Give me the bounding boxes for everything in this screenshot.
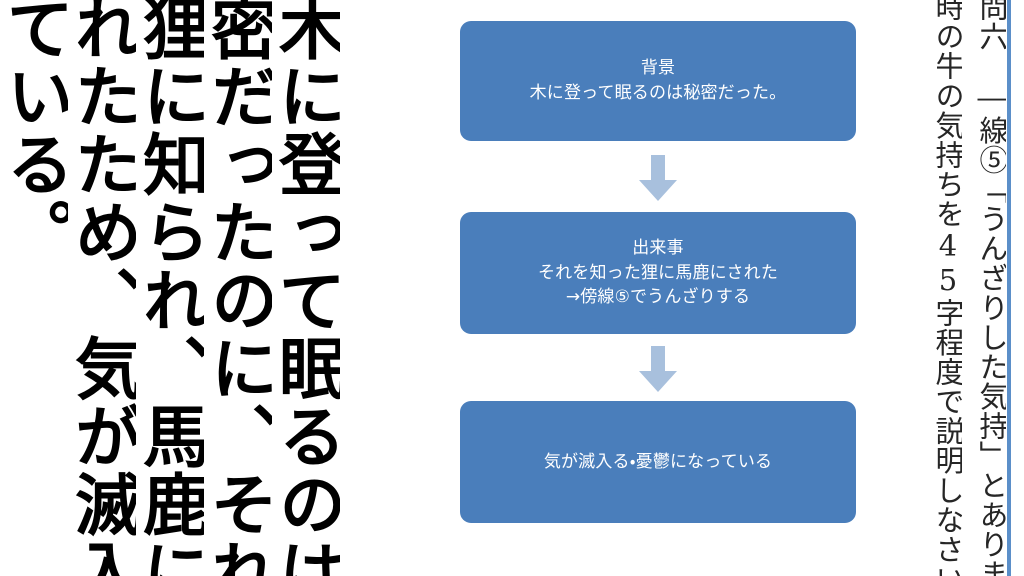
flowchart: 背景 木に登って眠るのは秘密だった。 出来事 それを知った狸に馬鹿にされた →傍… [460, 21, 856, 523]
question-column-2: 時の牛の気持ちを45字程度で説明しなさい。 [918, 0, 962, 576]
right-edge-rule [1007, 0, 1011, 576]
flow-box-event-heading: 出来事 [632, 236, 684, 261]
question-text-vertical: 問六 ―線⑤「うんざりした気持」とありますが、この 時の牛の気持ちを45字程度で… [888, 0, 1006, 576]
arrow-down-icon [639, 155, 677, 201]
passage-column-1: 木に登って眠るのは秘 [272, 0, 340, 576]
answer-passage-vertical: 木に登って眠るのは秘 密だったのに、それを 狸に知られ、馬鹿にさ れたため、気が… [0, 0, 340, 576]
flow-box-event-body-line-2: →傍線⑤でうんざりする [566, 285, 750, 310]
flow-box-event-body-line-1: それを知った狸に馬鹿にされた [538, 261, 778, 286]
question-column-1: 問六 ―線⑤「うんざりした気持」とありますが、この [962, 0, 1006, 576]
arrow-down-icon [639, 346, 677, 392]
flow-box-background-body: 木に登って眠るのは秘密だった。 [530, 81, 787, 106]
flow-box-event[interactable]: 出来事 それを知った狸に馬鹿にされた →傍線⑤でうんざりする [460, 212, 856, 334]
passage-column-5: ている。 [0, 0, 68, 576]
passage-column-4: れたため、気が滅入っ [68, 0, 136, 576]
passage-column-2: 密だったのに、それを [204, 0, 272, 576]
flow-box-result-body: 気が滅入る・憂鬱になっている [544, 450, 772, 475]
flow-box-background[interactable]: 背景 木に登って眠るのは秘密だった。 [460, 21, 856, 141]
flow-box-background-heading: 背景 [641, 56, 675, 81]
flow-box-result[interactable]: 気が滅入る・憂鬱になっている [460, 401, 856, 523]
passage-column-3: 狸に知られ、馬鹿にさ [136, 0, 204, 576]
slide-canvas: 木に登って眠るのは秘 密だったのに、それを 狸に知られ、馬鹿にさ れたため、気が… [0, 0, 1024, 576]
